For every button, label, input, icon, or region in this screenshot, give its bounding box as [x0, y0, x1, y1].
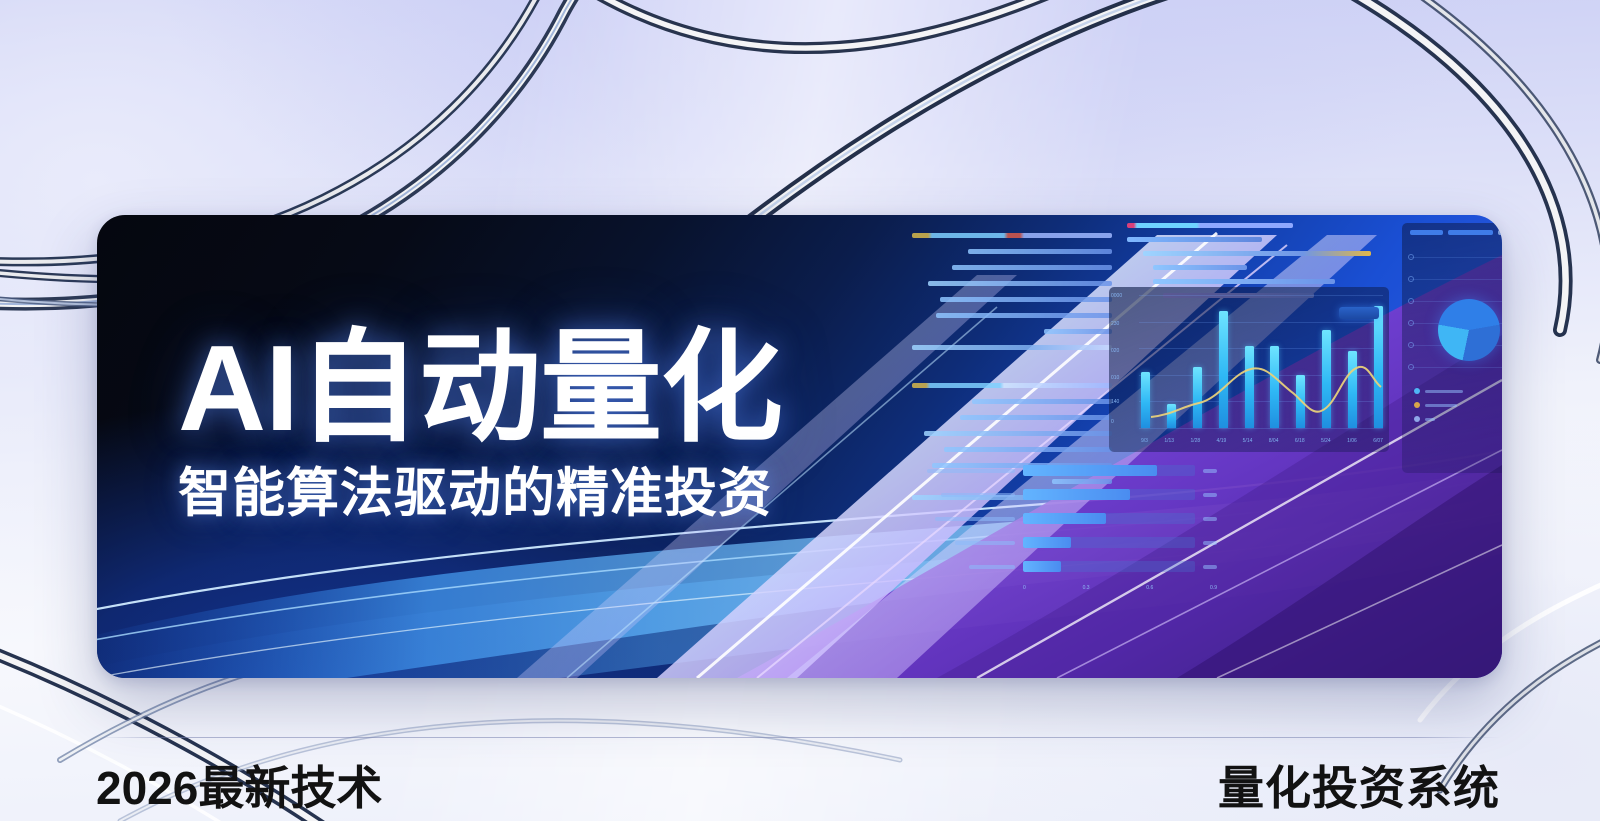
- bar-chart-panel: 0000 230 020 010 140 0: [1109, 287, 1389, 452]
- page-subtitle: 智能算法驱动的精准投资: [178, 467, 782, 520]
- progress-row: [927, 489, 1217, 500]
- footer-right-label: 量化投资系统: [1218, 752, 1500, 818]
- progress-row: [927, 513, 1217, 524]
- horizontal-bars-panel: 00.30.60.9: [927, 465, 1217, 591]
- hero-card: 0000 230 020 010 140 0: [97, 215, 1502, 678]
- pie-chart: [1438, 299, 1500, 361]
- footer-divider: [95, 737, 1500, 738]
- progress-row: [927, 537, 1217, 548]
- dashboard-mockup: 0000 230 020 010 140 0: [817, 215, 1502, 678]
- footer-left-label: 2026最新技术: [96, 752, 382, 818]
- pie-chart-panel: [1402, 223, 1502, 473]
- chart-x-labels: 9/31/131/284/195/14 8/046/185/241/066/07: [1141, 438, 1383, 444]
- chart-tooltip-chip[interactable]: [1339, 307, 1379, 319]
- headline-group: AI自动量化 智能算法驱动的精准投资: [178, 327, 782, 520]
- panel-header: [1410, 230, 1502, 235]
- progress-row: [927, 465, 1217, 476]
- hbars-axis-labels: 00.30.60.9: [927, 585, 1217, 591]
- banner-stage: 0000 230 020 010 140 0: [0, 0, 1600, 821]
- page-title: AI自动量化: [178, 327, 782, 449]
- progress-row: [927, 561, 1217, 572]
- pie-legend: [1414, 388, 1463, 430]
